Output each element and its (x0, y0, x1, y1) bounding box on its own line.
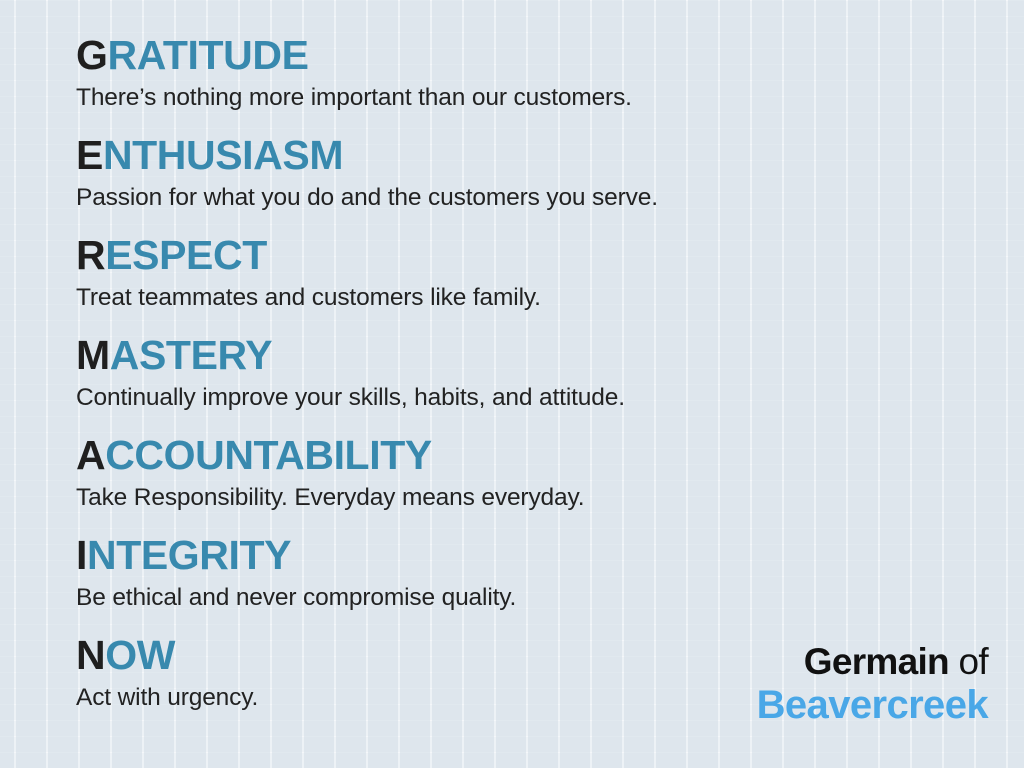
value-block-respect: RESPECT Treat teammates and customers li… (76, 232, 1004, 332)
value-rest-now: OW (105, 632, 175, 678)
poster-content: GRATITUDE There’s nothing more important… (0, 0, 1024, 768)
value-block-mastery: MASTERY Continually improve your skills,… (76, 332, 1004, 432)
value-heading-gratitude: GRATITUDE (76, 32, 1004, 78)
value-rest-mastery: ASTERY (110, 332, 272, 378)
value-heading-respect: RESPECT (76, 232, 1004, 278)
value-block-integrity: INTEGRITY Be ethical and never compromis… (76, 532, 1004, 632)
value-heading-accountability: ACCOUNTABILITY (76, 432, 1004, 478)
value-description-respect: Treat teammates and customers like famil… (76, 278, 1004, 313)
value-lead-letter-gratitude: G (76, 32, 108, 78)
value-rest-accountability: CCOUNTABILITY (105, 432, 432, 478)
core-values-poster: GRATITUDE There’s nothing more important… (0, 0, 1024, 768)
value-heading-enthusiasm: ENTHUSIASM (76, 132, 1004, 178)
value-heading-mastery: MASTERY (76, 332, 1004, 378)
value-rest-enthusiasm: NTHUSIASM (103, 132, 343, 178)
value-lead-letter-enthusiasm: E (76, 132, 103, 178)
value-description-integrity: Be ethical and never compromise quality. (76, 578, 1004, 613)
value-description-mastery: Continually improve your skills, habits,… (76, 378, 1004, 413)
value-block-enthusiasm: ENTHUSIASM Passion for what you do and t… (76, 132, 1004, 232)
value-description-accountability: Take Responsibility. Everyday means ever… (76, 478, 1004, 513)
value-heading-integrity: INTEGRITY (76, 532, 1004, 578)
value-rest-gratitude: RATITUDE (108, 32, 309, 78)
value-lead-letter-integrity: I (76, 532, 87, 578)
value-description-gratitude: There’s nothing more important than our … (76, 78, 1004, 113)
value-lead-letter-now: N (76, 632, 105, 678)
value-description-enthusiasm: Passion for what you do and the customer… (76, 178, 1004, 213)
value-lead-letter-respect: R (76, 232, 105, 278)
value-lead-letter-mastery: M (76, 332, 110, 378)
value-block-gratitude: GRATITUDE There’s nothing more important… (76, 32, 1004, 132)
core-values-list: GRATITUDE There’s nothing more important… (76, 32, 1004, 732)
brand-connector: of (949, 641, 988, 682)
value-lead-letter-accountability: A (76, 432, 105, 478)
value-block-accountability: ACCOUNTABILITY Take Responsibility. Ever… (76, 432, 1004, 532)
brand-name: Germain (804, 641, 949, 682)
value-rest-integrity: NTEGRITY (87, 532, 291, 578)
brand-location: Beavercreek (757, 683, 988, 728)
dealership-logo: Germain of Beavercreek (757, 641, 988, 728)
brand-primary-line: Germain of (757, 641, 988, 683)
value-rest-respect: ESPECT (105, 232, 267, 278)
